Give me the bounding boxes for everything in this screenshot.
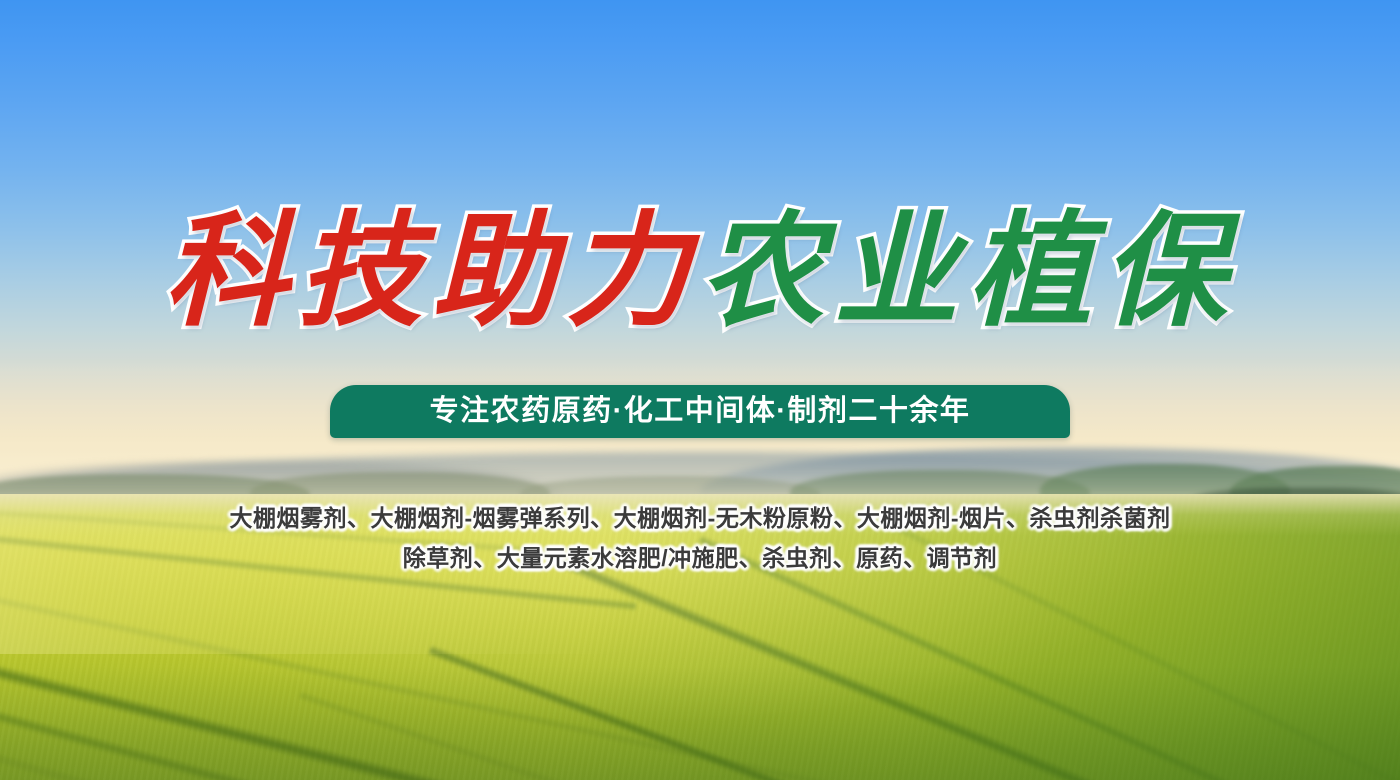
headline-text: 科技助力农业植保 <box>164 196 1236 347</box>
subtitle-pill: 专注农药原药·化工中间体·制剂二十余年 <box>330 385 1070 438</box>
headline: 科技助力农业植保 <box>0 196 1400 347</box>
headline-segment-green: 农业植保 <box>700 196 1236 347</box>
headline-segment-red: 科技助力 <box>164 196 700 347</box>
product-line: 除草剂、大量元素水溶肥/冲施肥、杀虫剂、原药、调节剂 <box>0 538 1400 578</box>
promotional-banner: 科技助力农业植保 专注农药原药·化工中间体·制剂二十余年 大棚烟雾剂、大棚烟剂-… <box>0 0 1400 780</box>
product-line: 大棚烟雾剂、大棚烟剂-烟雾弹系列、大棚烟剂-无木粉原粉、大棚烟剂-烟片、杀虫剂杀… <box>0 498 1400 538</box>
subtitle-text: 专注农药原药·化工中间体·制剂二十余年 <box>430 397 971 426</box>
product-category-list: 大棚烟雾剂、大棚烟剂-烟雾弹系列、大棚烟剂-无木粉原粉、大棚烟剂-烟片、杀虫剂杀… <box>0 498 1400 578</box>
